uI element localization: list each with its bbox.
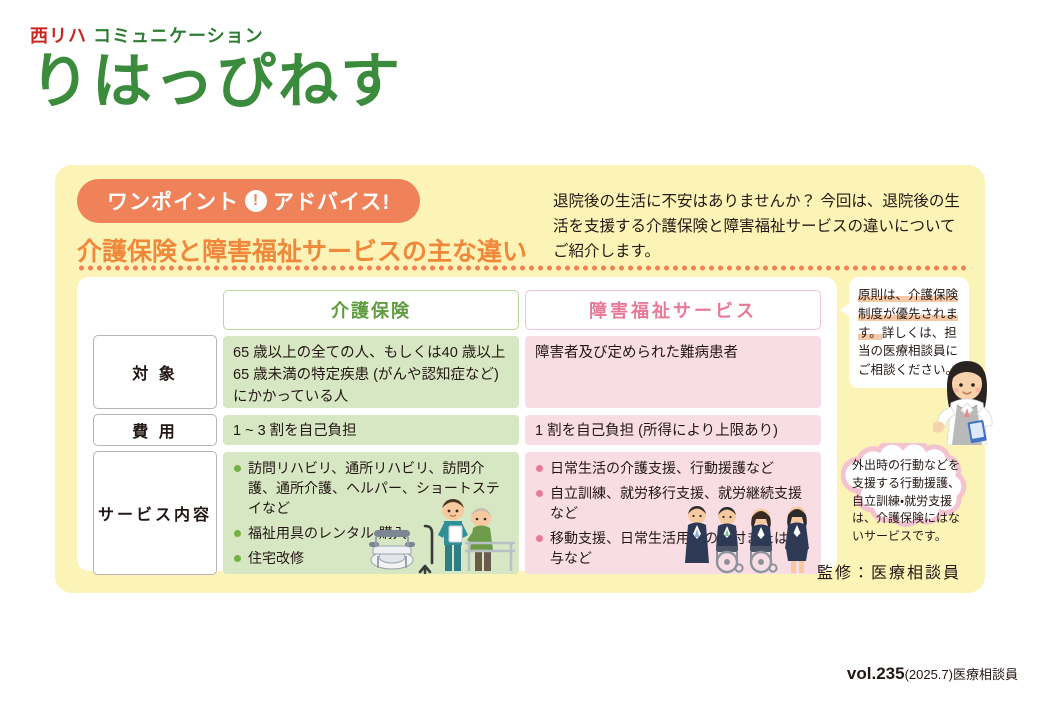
comparison-card: 介護保険 障害福祉サービス 対 象 65 歳以上の全ての人、もしくは40 歳以上… (77, 277, 837, 571)
row-services-kaigo-body: 訪問リハビリ、通所リハビリ、訪問介護、通所介護、ヘルパー、ショートステイなど 福… (223, 452, 519, 574)
page-title: 介護保険と障害福祉サービスの主な違い (77, 232, 547, 268)
note-shogai-only: 外出時の行動などを支援する行動援護、自立訓練・就労支援は、介護保険にはないサービ… (841, 443, 975, 535)
table-header-row: 介護保険 障害福祉サービス (93, 290, 821, 330)
row-cost-shogai: 1 割を自己負担 (所得により上限あり) (525, 414, 821, 446)
shogai-header-label: 障害福祉サービス (525, 290, 821, 330)
note-shogai-only-text: 外出時の行動などを支援する行動援護、自立訓練・就労支援は、介護保険にはないサービ… (852, 457, 968, 546)
masthead-kicker: 西リハ コミュニケーション (30, 22, 450, 48)
row-target-shogai-text: 障害者及び定められた難病患者 (525, 336, 821, 408)
kaigo-service-list: 訪問リハビリ、通所リハビリ、訪問介護、通所介護、ヘルパー、ショートステイなど 福… (233, 459, 509, 568)
row-target-kaigo: 65 歳以上の全ての人、もしくは40 歳以上65 歳未満の特定疾患 (がんや認知… (223, 335, 519, 409)
table-header-kaigo: 介護保険 (223, 290, 519, 330)
table-header-corner (93, 290, 217, 330)
volume-date: (2025.7) (905, 667, 953, 682)
masthead: 西リハ コミュニケーション りはっぴねす (30, 22, 450, 113)
list-item: 福祉用具のレンタル・購入 (233, 524, 509, 544)
row-label-services: サービス内容 (93, 451, 217, 575)
badge-label-right: アドバイス! (273, 186, 390, 216)
one-point-advice-badge: ワンポイント ! アドバイス! (77, 179, 420, 223)
row-cost-shogai-text: 1 割を自己負担 (所得により上限あり) (525, 415, 821, 445)
row-services-kaigo: 訪問リハビリ、通所リハビリ、訪問介護、通所介護、ヘルパー、ショートステイなど 福… (223, 451, 519, 575)
comparison-table: 介護保険 障害福祉サービス 対 象 65 歳以上の全ての人、もしくは40 歳以上… (87, 285, 827, 580)
row-target-kaigo-text: 65 歳以上の全ての人、もしくは40 歳以上65 歳未満の特定疾患 (がんや認知… (223, 336, 519, 408)
row-target-shogai: 障害者及び定められた難病患者 (525, 335, 821, 409)
masthead-kicker-green: コミュニケーション (93, 26, 264, 46)
table-row: サービス内容 訪問リハビリ、通所リハビリ、訪問介護、通所介護、ヘルパー、ショート… (93, 451, 821, 575)
panel-header: ワンポイント ! アドバイス! 介護保険と障害福祉サービスの主な違い 退院後の生… (55, 165, 985, 268)
supervisor-credit: 監修：医療相談員 (817, 559, 961, 583)
list-item: 住宅改修 (233, 549, 509, 569)
shogai-service-list: 日常生活の介護支援、行動援護など 自立訓練、就労移行支援、就労継続支援など 移動… (535, 459, 811, 568)
table-header-shogai: 障害福祉サービス (525, 290, 821, 330)
main-panel: ワンポイント ! アドバイス! 介護保険と障害福祉サービスの主な違い 退院後の生… (52, 162, 988, 596)
row-cost-kaigo-text: 1 ~ 3 割を自己負担 (223, 415, 519, 445)
volume-author: 医療相談員 (953, 667, 1018, 682)
volume-number: vol.235 (847, 664, 905, 683)
intro-text: 退院後の生活に不安はありませんか？ 今回は、退院後の生活を支援する介護保険と障害… (547, 179, 963, 264)
dotted-divider (77, 265, 969, 271)
table-row: 費 用 1 ~ 3 割を自己負担 1 割を自己負担 (所得により上限あり) (93, 414, 821, 446)
panel-header-left: ワンポイント ! アドバイス! 介護保険と障害福祉サービスの主な違い (77, 179, 547, 268)
row-services-shogai-body: 日常生活の介護支援、行動援護など 自立訓練、就労移行支援、就労継続支援など 移動… (525, 452, 821, 574)
list-item: 移動支援、日常生活用品の給付または貸与など (535, 529, 811, 569)
table-row: 対 象 65 歳以上の全ての人、もしくは40 歳以上65 歳未満の特定疾患 (が… (93, 335, 821, 409)
volume-label: vol.235(2025.7)医療相談員 (847, 664, 1018, 684)
row-label-cost: 費 用 (93, 414, 217, 446)
row-label-target: 対 象 (93, 335, 217, 409)
staff-member-illustration (933, 353, 1007, 445)
list-item: 自立訓練、就労移行支援、就労継続支援など (535, 484, 811, 524)
list-item: 日常生活の介護支援、行動援護など (535, 459, 811, 479)
masthead-kicker-red: 西リハ (30, 26, 87, 46)
row-services-shogai: 日常生活の介護支援、行動援護など 自立訓練、就労移行支援、就労継続支援など 移動… (525, 451, 821, 575)
badge-label-left: ワンポイント (107, 186, 239, 216)
row-cost-kaigo: 1 ~ 3 割を自己負担 (223, 414, 519, 446)
list-item: 訪問リハビリ、通所リハビリ、訪問介護、通所介護、ヘルパー、ショートステイなど (233, 459, 509, 519)
masthead-wordmark: りはっぴねす (30, 50, 450, 113)
exclamation-icon: ! (245, 190, 267, 212)
kaigo-header-label: 介護保険 (223, 290, 519, 330)
